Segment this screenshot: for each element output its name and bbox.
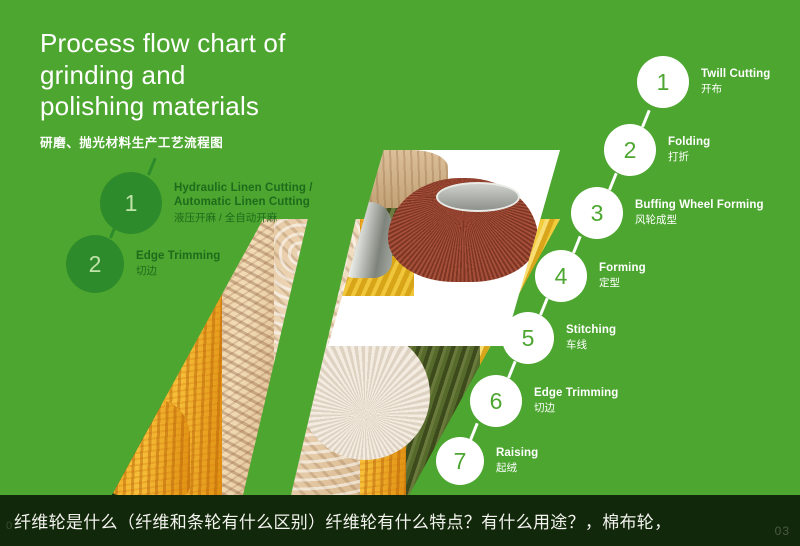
watermark-left: 0 xyxy=(6,520,12,532)
right-step-6-number: 6 xyxy=(490,390,503,413)
bubble-tail-icon xyxy=(147,158,157,176)
right-step-5-number: 5 xyxy=(522,327,535,350)
right-step-7-bubble[interactable]: 7 xyxy=(436,437,484,485)
right-step-7-labels: Raising 起绒 xyxy=(496,446,538,476)
left-step-1-number: 1 xyxy=(125,192,138,215)
photo-strip-pink xyxy=(0,150,44,495)
right-step-2-label-en: Folding xyxy=(668,135,710,149)
right-step-4-bubble[interactable]: 4 xyxy=(535,250,587,302)
right-step-2-labels: Folding 打折 xyxy=(668,135,710,165)
right-step-1-label-en: Twill Cutting xyxy=(701,67,770,81)
right-step-4-labels: Forming 定型 xyxy=(599,261,646,291)
right-step-5[interactable]: 5 Stitching 车线 xyxy=(502,312,616,364)
right-step-4-label-cn: 定型 xyxy=(599,277,646,291)
header: Process flow chart of grinding and polis… xyxy=(40,28,460,151)
right-step-7-label-en: Raising xyxy=(496,446,538,460)
left-step-2-label-cn: 切边 xyxy=(136,265,220,279)
right-step-2-bubble[interactable]: 2 xyxy=(604,124,656,176)
left-step-1-bubble[interactable]: 1 xyxy=(100,172,162,234)
left-step-1-label-cn: 液压开麻 / 全自动开麻 xyxy=(174,212,313,226)
right-step-1[interactable]: 1 Twill Cutting 开布 xyxy=(637,56,770,108)
right-step-1-labels: Twill Cutting 开布 xyxy=(701,67,770,97)
caption-text: 纤维轮是什么（纤维和条轮有什么区别）纤维轮有什么特点？有什么用途？，棉布轮， xyxy=(14,508,671,533)
left-step-1[interactable]: 1 Hydraulic Linen Cutting / Automatic Li… xyxy=(100,172,313,234)
right-step-7-label-cn: 起绒 xyxy=(496,462,538,476)
right-step-6-label-en: Edge Trimming xyxy=(534,386,618,400)
right-step-7-number: 7 xyxy=(454,450,467,473)
right-step-6-label-cn: 切边 xyxy=(534,402,618,416)
right-step-2-label-cn: 打折 xyxy=(668,151,710,165)
right-step-6-labels: Edge Trimming 切边 xyxy=(534,386,618,416)
right-step-3-labels: Buffing Wheel Forming 风轮成型 xyxy=(635,198,764,228)
photo-white-disc xyxy=(300,330,430,460)
caption-bar: 纤维轮是什么（纤维和条轮有什么区别）纤维轮有什么特点？有什么用途？，棉布轮， 0… xyxy=(0,495,800,546)
left-step-2[interactable]: 2 Edge Trimming 切边 xyxy=(66,235,220,293)
right-step-7[interactable]: 7 Raising 起绒 xyxy=(436,437,538,485)
right-step-1-bubble[interactable]: 1 xyxy=(637,56,689,108)
right-step-3[interactable]: 3 Buffing Wheel Forming 风轮成型 xyxy=(571,187,764,239)
photo-orange-block xyxy=(110,400,190,495)
right-step-3-number: 3 xyxy=(591,202,604,225)
right-step-5-bubble[interactable]: 5 xyxy=(502,312,554,364)
right-step-1-label-cn: 开布 xyxy=(701,83,770,97)
right-step-4-label-en: Forming xyxy=(599,261,646,275)
right-step-3-bubble[interactable]: 3 xyxy=(571,187,623,239)
right-step-6[interactable]: 6 Edge Trimming 切边 xyxy=(470,375,618,427)
right-step-4[interactable]: 4 Forming 定型 xyxy=(535,250,646,302)
page-title: Process flow chart of grinding and polis… xyxy=(40,28,460,123)
photo-brush-wheel-hub xyxy=(436,182,520,212)
right-step-5-label-cn: 车线 xyxy=(566,339,616,353)
flowchart-poster: Process flow chart of grinding and polis… xyxy=(0,0,800,546)
left-step-1-label-en: Hydraulic Linen Cutting / Automatic Line… xyxy=(174,181,313,210)
watermark-page-number: 03 xyxy=(775,524,790,538)
right-step-2[interactable]: 2 Folding 打折 xyxy=(604,124,710,176)
right-step-6-bubble[interactable]: 6 xyxy=(470,375,522,427)
left-step-2-labels: Edge Trimming 切边 xyxy=(136,249,220,279)
left-step-2-label-en: Edge Trimming xyxy=(136,249,220,263)
left-step-2-number: 2 xyxy=(89,253,102,276)
right-step-2-number: 2 xyxy=(624,139,637,162)
left-step-2-bubble[interactable]: 2 xyxy=(66,235,124,293)
page-subtitle: 研磨、抛光材料生产工艺流程图 xyxy=(40,132,460,151)
right-step-3-label-cn: 风轮成型 xyxy=(635,214,764,228)
left-step-1-labels: Hydraulic Linen Cutting / Automatic Line… xyxy=(174,181,313,226)
bubble-tail-icon xyxy=(641,110,651,128)
right-step-4-number: 4 xyxy=(555,265,568,288)
right-step-5-labels: Stitching 车线 xyxy=(566,323,616,353)
right-step-1-number: 1 xyxy=(657,71,670,94)
right-step-3-label-en: Buffing Wheel Forming xyxy=(635,198,764,212)
right-step-5-label-en: Stitching xyxy=(566,323,616,337)
